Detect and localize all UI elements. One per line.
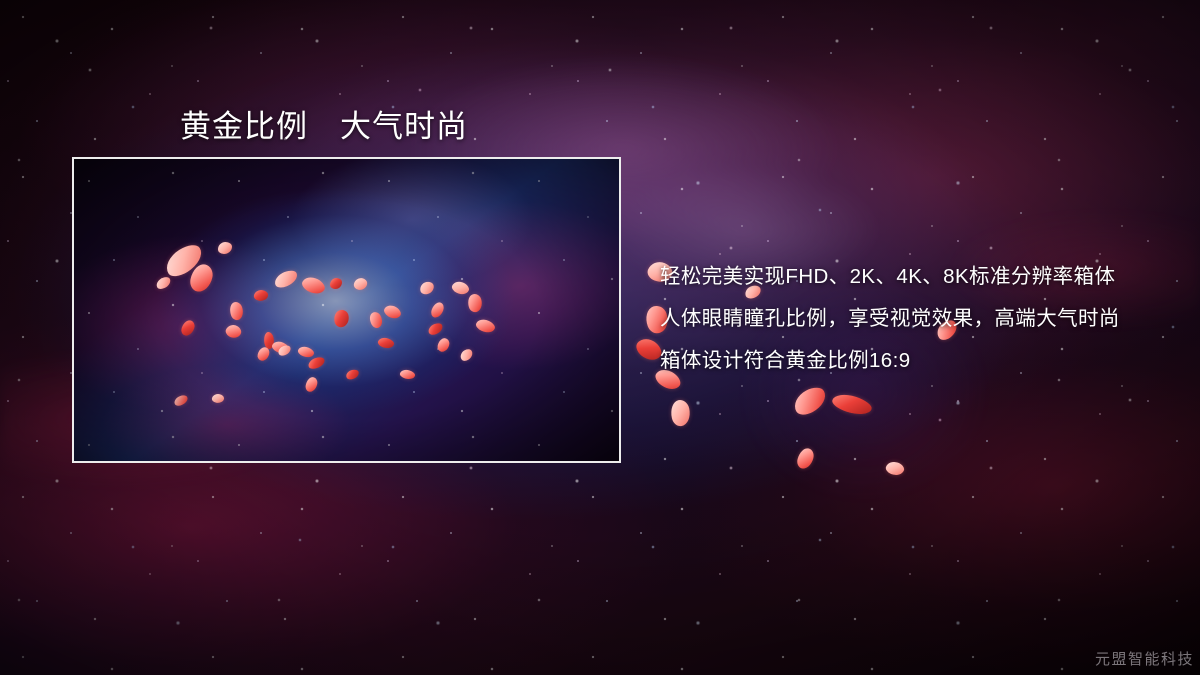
panel-vignette: [74, 159, 619, 461]
slide-title: 黄金比例 大气时尚: [180, 101, 468, 146]
body-line-3: 箱体设计符合黄金比例16:9: [660, 340, 1120, 382]
framed-image-panel: [72, 157, 621, 463]
body-line-2: 人体眼睛瞳孔比例，享受视觉效果，高端大气时尚: [660, 298, 1120, 340]
presentation-slide: 黄金比例 大气时尚 轻松完美实现FHD、2K、4K、8K标准分辨率箱体 人体眼睛…: [0, 0, 1200, 675]
body-text-block: 轻松完美实现FHD、2K、4K、8K标准分辨率箱体 人体眼睛瞳孔比例，享受视觉效…: [660, 256, 1120, 382]
body-line-1: 轻松完美实现FHD、2K、4K、8K标准分辨率箱体: [660, 256, 1120, 298]
watermark-label: 元盟智能科技: [1095, 648, 1194, 669]
